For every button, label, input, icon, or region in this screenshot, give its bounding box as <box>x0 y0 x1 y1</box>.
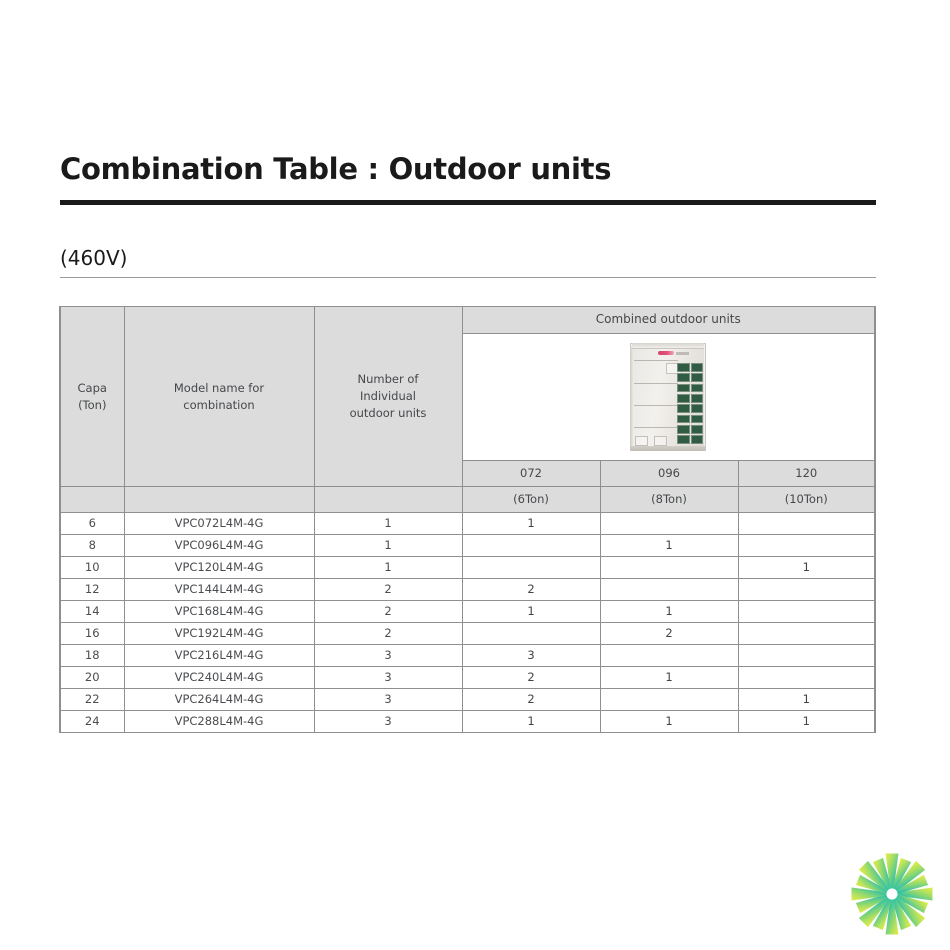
cell-capa: 18 <box>60 645 124 667</box>
header-number-line3: outdoor units <box>315 405 462 422</box>
cell-qty-120: 1 <box>738 711 875 733</box>
unit-foot-right <box>654 436 667 446</box>
unit-base <box>631 446 705 451</box>
grille-cell <box>691 384 703 393</box>
header-code-120: 120 <box>738 461 875 487</box>
cell-unit-count: 1 <box>314 557 462 579</box>
unit-panel-seam-4 <box>634 427 678 428</box>
cell-qty-096: 1 <box>600 535 738 557</box>
cell-qty-072: 2 <box>462 667 600 689</box>
cell-qty-120 <box>738 623 875 645</box>
cell-qty-096 <box>600 557 738 579</box>
cell-qty-096 <box>600 579 738 601</box>
cell-model: VPC216L4M-4G <box>124 645 314 667</box>
cell-capa: 8 <box>60 535 124 557</box>
table-row: 6VPC072L4M-4G11 <box>60 513 875 535</box>
cell-unit-count: 3 <box>314 667 462 689</box>
cell-model: VPC168L4M-4G <box>124 601 314 623</box>
header-ton-capa-spacer <box>60 487 124 513</box>
cell-qty-120 <box>738 579 875 601</box>
cell-qty-072: 2 <box>462 689 600 711</box>
table-row: 24VPC288L4M-4G3111 <box>60 711 875 733</box>
grille-cell <box>677 415 689 424</box>
cell-unit-count: 2 <box>314 579 462 601</box>
header-code-072: 072 <box>462 461 600 487</box>
cell-model: VPC072L4M-4G <box>124 513 314 535</box>
header-ton-072: (6Ton) <box>462 487 600 513</box>
combination-table-wrapper: Capa (Ton) Model name for combination Nu… <box>59 306 876 733</box>
unit-panel-seam-1 <box>634 360 678 361</box>
cell-model: VPC240L4M-4G <box>124 667 314 689</box>
cell-qty-072: 3 <box>462 645 600 667</box>
unit-grille <box>677 363 703 444</box>
cell-capa: 6 <box>60 513 124 535</box>
cell-unit-count: 3 <box>314 689 462 711</box>
title-divider <box>60 200 876 205</box>
header-ton-model-spacer <box>124 487 314 513</box>
cell-capa: 10 <box>60 557 124 579</box>
header-capa-line1: Capa <box>61 380 124 397</box>
header-ton-number-spacer <box>314 487 462 513</box>
grille-cell <box>677 394 689 403</box>
table-row: 10VPC120L4M-4G11 <box>60 557 875 579</box>
cell-qty-072 <box>462 623 600 645</box>
unit-brand-logo-icon <box>658 351 674 355</box>
grille-cell <box>677 373 689 382</box>
cell-unit-count: 3 <box>314 711 462 733</box>
unit-top-cap <box>632 343 704 349</box>
grille-cell <box>691 435 703 444</box>
cell-qty-120 <box>738 513 875 535</box>
cell-unit-count: 1 <box>314 535 462 557</box>
header-ton-120: (10Ton) <box>738 487 875 513</box>
table-row: 22VPC264L4M-4G321 <box>60 689 875 711</box>
combination-table: Capa (Ton) Model name for combination Nu… <box>59 306 876 733</box>
cell-model: VPC192L4M-4G <box>124 623 314 645</box>
cell-model: VPC264L4M-4G <box>124 689 314 711</box>
cell-unit-count: 2 <box>314 601 462 623</box>
cell-qty-072: 1 <box>462 513 600 535</box>
header-ton-096: (8Ton) <box>600 487 738 513</box>
unit-panel-seam-3 <box>634 405 678 406</box>
cell-qty-096: 2 <box>600 623 738 645</box>
cell-qty-096: 1 <box>600 667 738 689</box>
header-code-096: 096 <box>600 461 738 487</box>
page-title: Combination Table : Outdoor units <box>60 152 611 186</box>
cell-model: VPC096L4M-4G <box>124 535 314 557</box>
table-row: 8VPC096L4M-4G11 <box>60 535 875 557</box>
header-number-of-units: Number of Individual outdoor units <box>314 307 462 487</box>
grille-cell <box>677 425 689 434</box>
table-row: 14VPC168L4M-4G211 <box>60 601 875 623</box>
header-number-line1: Number of <box>315 371 462 388</box>
grille-cell <box>691 404 703 413</box>
cell-qty-072: 1 <box>462 601 600 623</box>
outdoor-unit-image-cell <box>462 334 875 461</box>
cell-unit-count: 3 <box>314 645 462 667</box>
grille-cell <box>691 373 703 382</box>
cell-capa: 22 <box>60 689 124 711</box>
grille-cell <box>677 384 689 393</box>
voltage-subtitle: (460V) <box>60 246 127 270</box>
unit-foot-left <box>635 436 648 446</box>
header-capa-line2: (Ton) <box>61 397 124 414</box>
table-head: Capa (Ton) Model name for combination Nu… <box>60 307 875 513</box>
cell-qty-072: 2 <box>462 579 600 601</box>
header-number-line2: Individual <box>315 388 462 405</box>
grille-cell <box>691 363 703 372</box>
table-row: 16VPC192L4M-4G22 <box>60 623 875 645</box>
cell-qty-096 <box>600 513 738 535</box>
cell-model: VPC144L4M-4G <box>124 579 314 601</box>
header-model-line1: Model name for <box>125 380 314 397</box>
cell-capa: 24 <box>60 711 124 733</box>
cell-qty-072 <box>462 557 600 579</box>
outdoor-unit-photo <box>630 343 706 451</box>
grille-cell <box>691 394 703 403</box>
grille-cell <box>677 435 689 444</box>
cell-qty-096 <box>600 645 738 667</box>
unit-panel-seam-2 <box>634 383 678 384</box>
grille-cell <box>691 415 703 424</box>
header-model-line2: combination <box>125 397 314 414</box>
header-model-name: Model name for combination <box>124 307 314 487</box>
cell-qty-096: 1 <box>600 711 738 733</box>
header-row-tons: (6Ton) (8Ton) (10Ton) <box>60 487 875 513</box>
cell-qty-120 <box>738 601 875 623</box>
cell-unit-count: 2 <box>314 623 462 645</box>
cell-qty-072: 1 <box>462 711 600 733</box>
grille-cell <box>677 404 689 413</box>
unit-left-edge <box>630 347 633 447</box>
cell-qty-120: 1 <box>738 689 875 711</box>
cell-capa: 14 <box>60 601 124 623</box>
table-body: 6VPC072L4M-4G118VPC096L4M-4G1110VPC120L4… <box>60 513 875 733</box>
grille-cell <box>677 363 689 372</box>
cell-qty-120 <box>738 645 875 667</box>
header-row-group: Capa (Ton) Model name for combination Nu… <box>60 307 875 334</box>
cell-qty-120 <box>738 667 875 689</box>
table-row: 20VPC240L4M-4G321 <box>60 667 875 689</box>
starburst-logo <box>846 848 938 940</box>
cell-qty-072 <box>462 535 600 557</box>
table-row: 12VPC144L4M-4G22 <box>60 579 875 601</box>
subtitle-divider <box>60 277 876 278</box>
cell-model: VPC288L4M-4G <box>124 711 314 733</box>
cell-capa: 16 <box>60 623 124 645</box>
cell-capa: 20 <box>60 667 124 689</box>
starburst-rays <box>852 854 933 935</box>
cell-capa: 12 <box>60 579 124 601</box>
unit-brand-text <box>676 352 689 355</box>
cell-qty-096 <box>600 689 738 711</box>
header-capa: Capa (Ton) <box>60 307 124 487</box>
cell-qty-120: 1 <box>738 557 875 579</box>
table-row: 18VPC216L4M-4G33 <box>60 645 875 667</box>
grille-cell <box>691 425 703 434</box>
cell-unit-count: 1 <box>314 513 462 535</box>
cell-qty-120 <box>738 535 875 557</box>
header-combined-outdoor-units: Combined outdoor units <box>462 307 875 334</box>
cell-qty-096: 1 <box>600 601 738 623</box>
cell-model: VPC120L4M-4G <box>124 557 314 579</box>
